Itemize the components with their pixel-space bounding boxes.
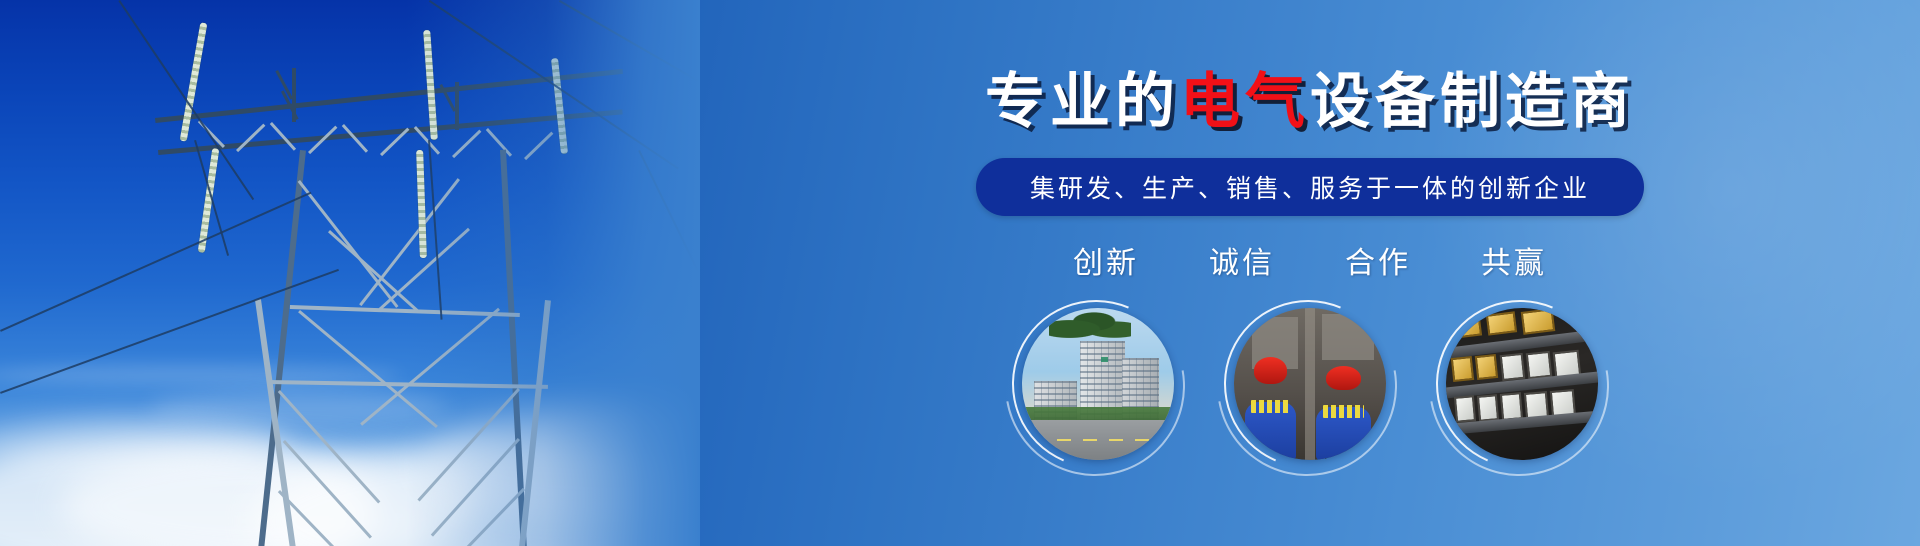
photo-gradient-fade <box>0 0 700 546</box>
headline-prefix: 专业的 <box>985 68 1180 135</box>
worker-figure <box>1245 357 1297 460</box>
circle-photo-workers <box>1234 308 1386 460</box>
circle-photo-certificates <box>1446 308 1598 460</box>
headline-suffix: 设备制造商 <box>1310 68 1635 135</box>
tagline-pill: 集研发、生产、销售、服务于一体的创新企业 <box>976 158 1644 216</box>
banner-content: 专业的电气设备制造商 集研发、生产、销售、服务于一体的创新企业 创新 诚信 合作… <box>700 0 1920 546</box>
road <box>1022 420 1174 460</box>
transmission-tower-photo <box>0 0 700 546</box>
circle-photo-building <box>1022 308 1174 460</box>
hard-hat-icon <box>1326 366 1361 391</box>
office-building-photo <box>1022 308 1174 460</box>
headline-highlight: 电气 <box>1180 68 1310 135</box>
worker-figure <box>1316 366 1371 460</box>
worker-legs <box>1325 458 1362 460</box>
workers-installation-photo <box>1234 308 1386 460</box>
page-title: 专业的电气设备制造商 <box>985 72 1635 132</box>
photo-circle-group <box>1022 308 1598 460</box>
keyword-item-4: 共赢 <box>1481 238 1547 282</box>
keyword-item-2: 诚信 <box>1209 238 1275 282</box>
keyword-list: 创新 诚信 合作 共赢 <box>1073 238 1547 282</box>
hard-hat-icon <box>1254 357 1287 384</box>
uniform-logo <box>1323 405 1365 417</box>
tree-foliage <box>1049 311 1131 341</box>
certificate-wall-photo <box>1446 308 1598 460</box>
tagline-text: 集研发、生产、销售、服务于一体的创新企业 <box>1030 175 1590 203</box>
worker-legs <box>1253 458 1288 460</box>
hero-banner: 专业的电气设备制造商 集研发、生产、销售、服务于一体的创新企业 创新 诚信 合作… <box>0 0 1920 546</box>
rooftop-sign <box>1101 357 1108 361</box>
keyword-item-1: 创新 <box>1073 238 1139 282</box>
keyword-item-3: 合作 <box>1345 238 1411 282</box>
equipment-cabinet <box>1322 314 1374 360</box>
panel-divider <box>1305 308 1314 460</box>
uniform-logo <box>1251 400 1290 413</box>
